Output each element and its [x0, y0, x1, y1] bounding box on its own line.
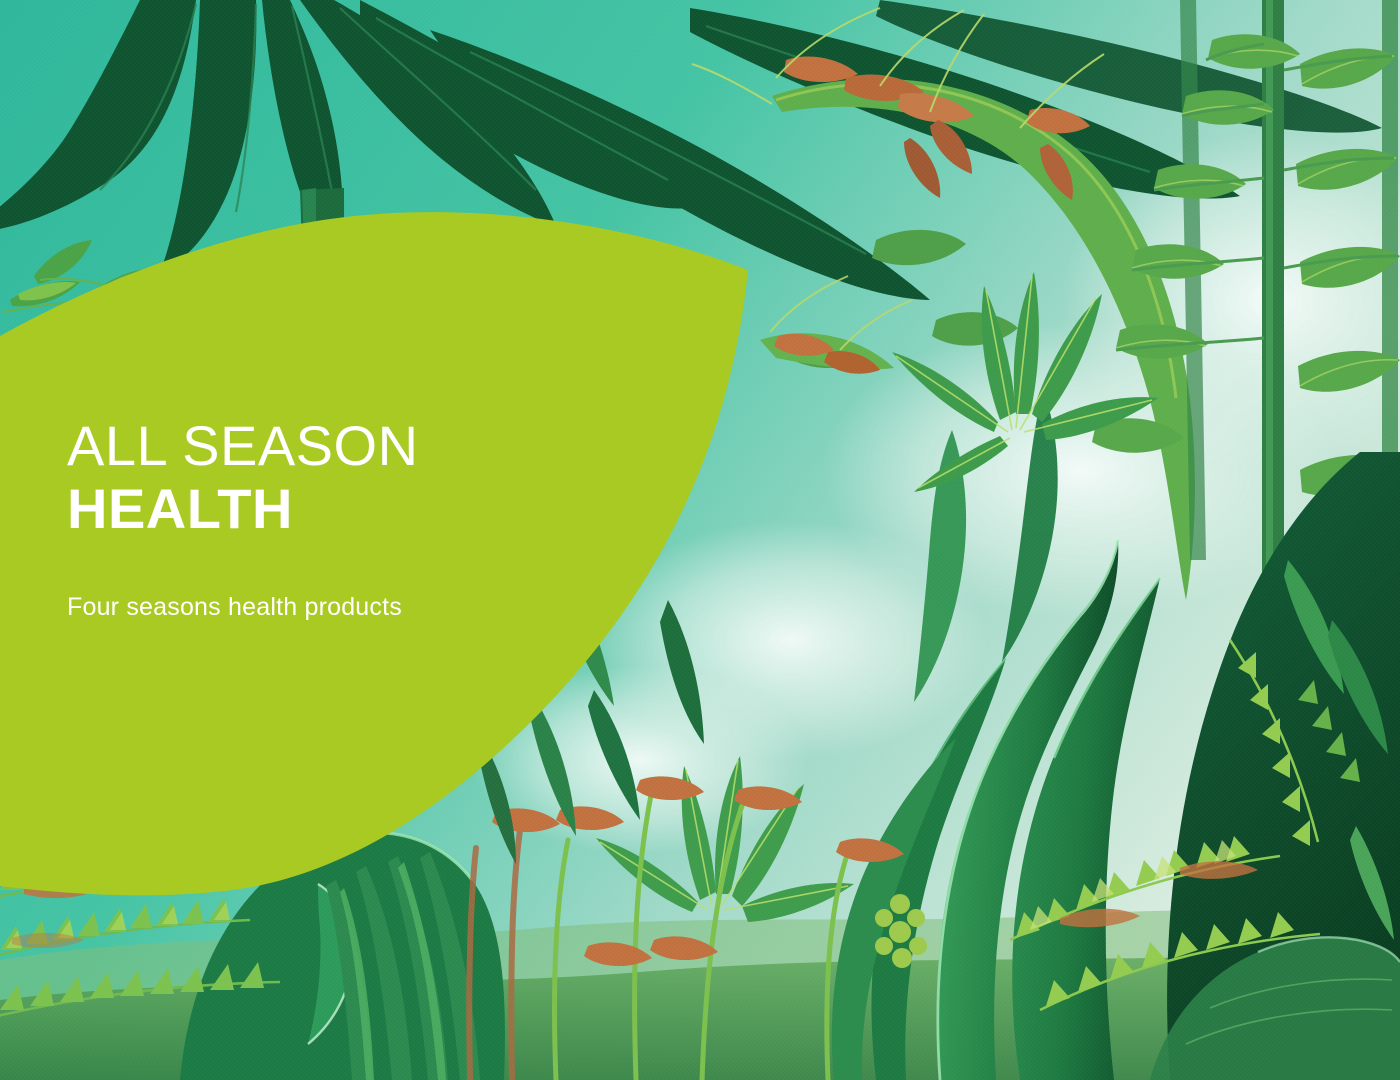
page-title: ALL SEASON HEALTH — [67, 415, 587, 540]
leaf-panel-path — [0, 212, 748, 895]
subtitle: Four seasons health products — [67, 593, 402, 622]
headline-line-1: ALL SEASON — [67, 415, 587, 478]
headline-block: ALL SEASON HEALTH Four seasons health pr… — [67, 415, 587, 540]
poster-canvas: ALL SEASON HEALTH Four seasons health pr… — [0, 0, 1400, 1080]
headline-line-2: HEALTH — [67, 478, 587, 541]
